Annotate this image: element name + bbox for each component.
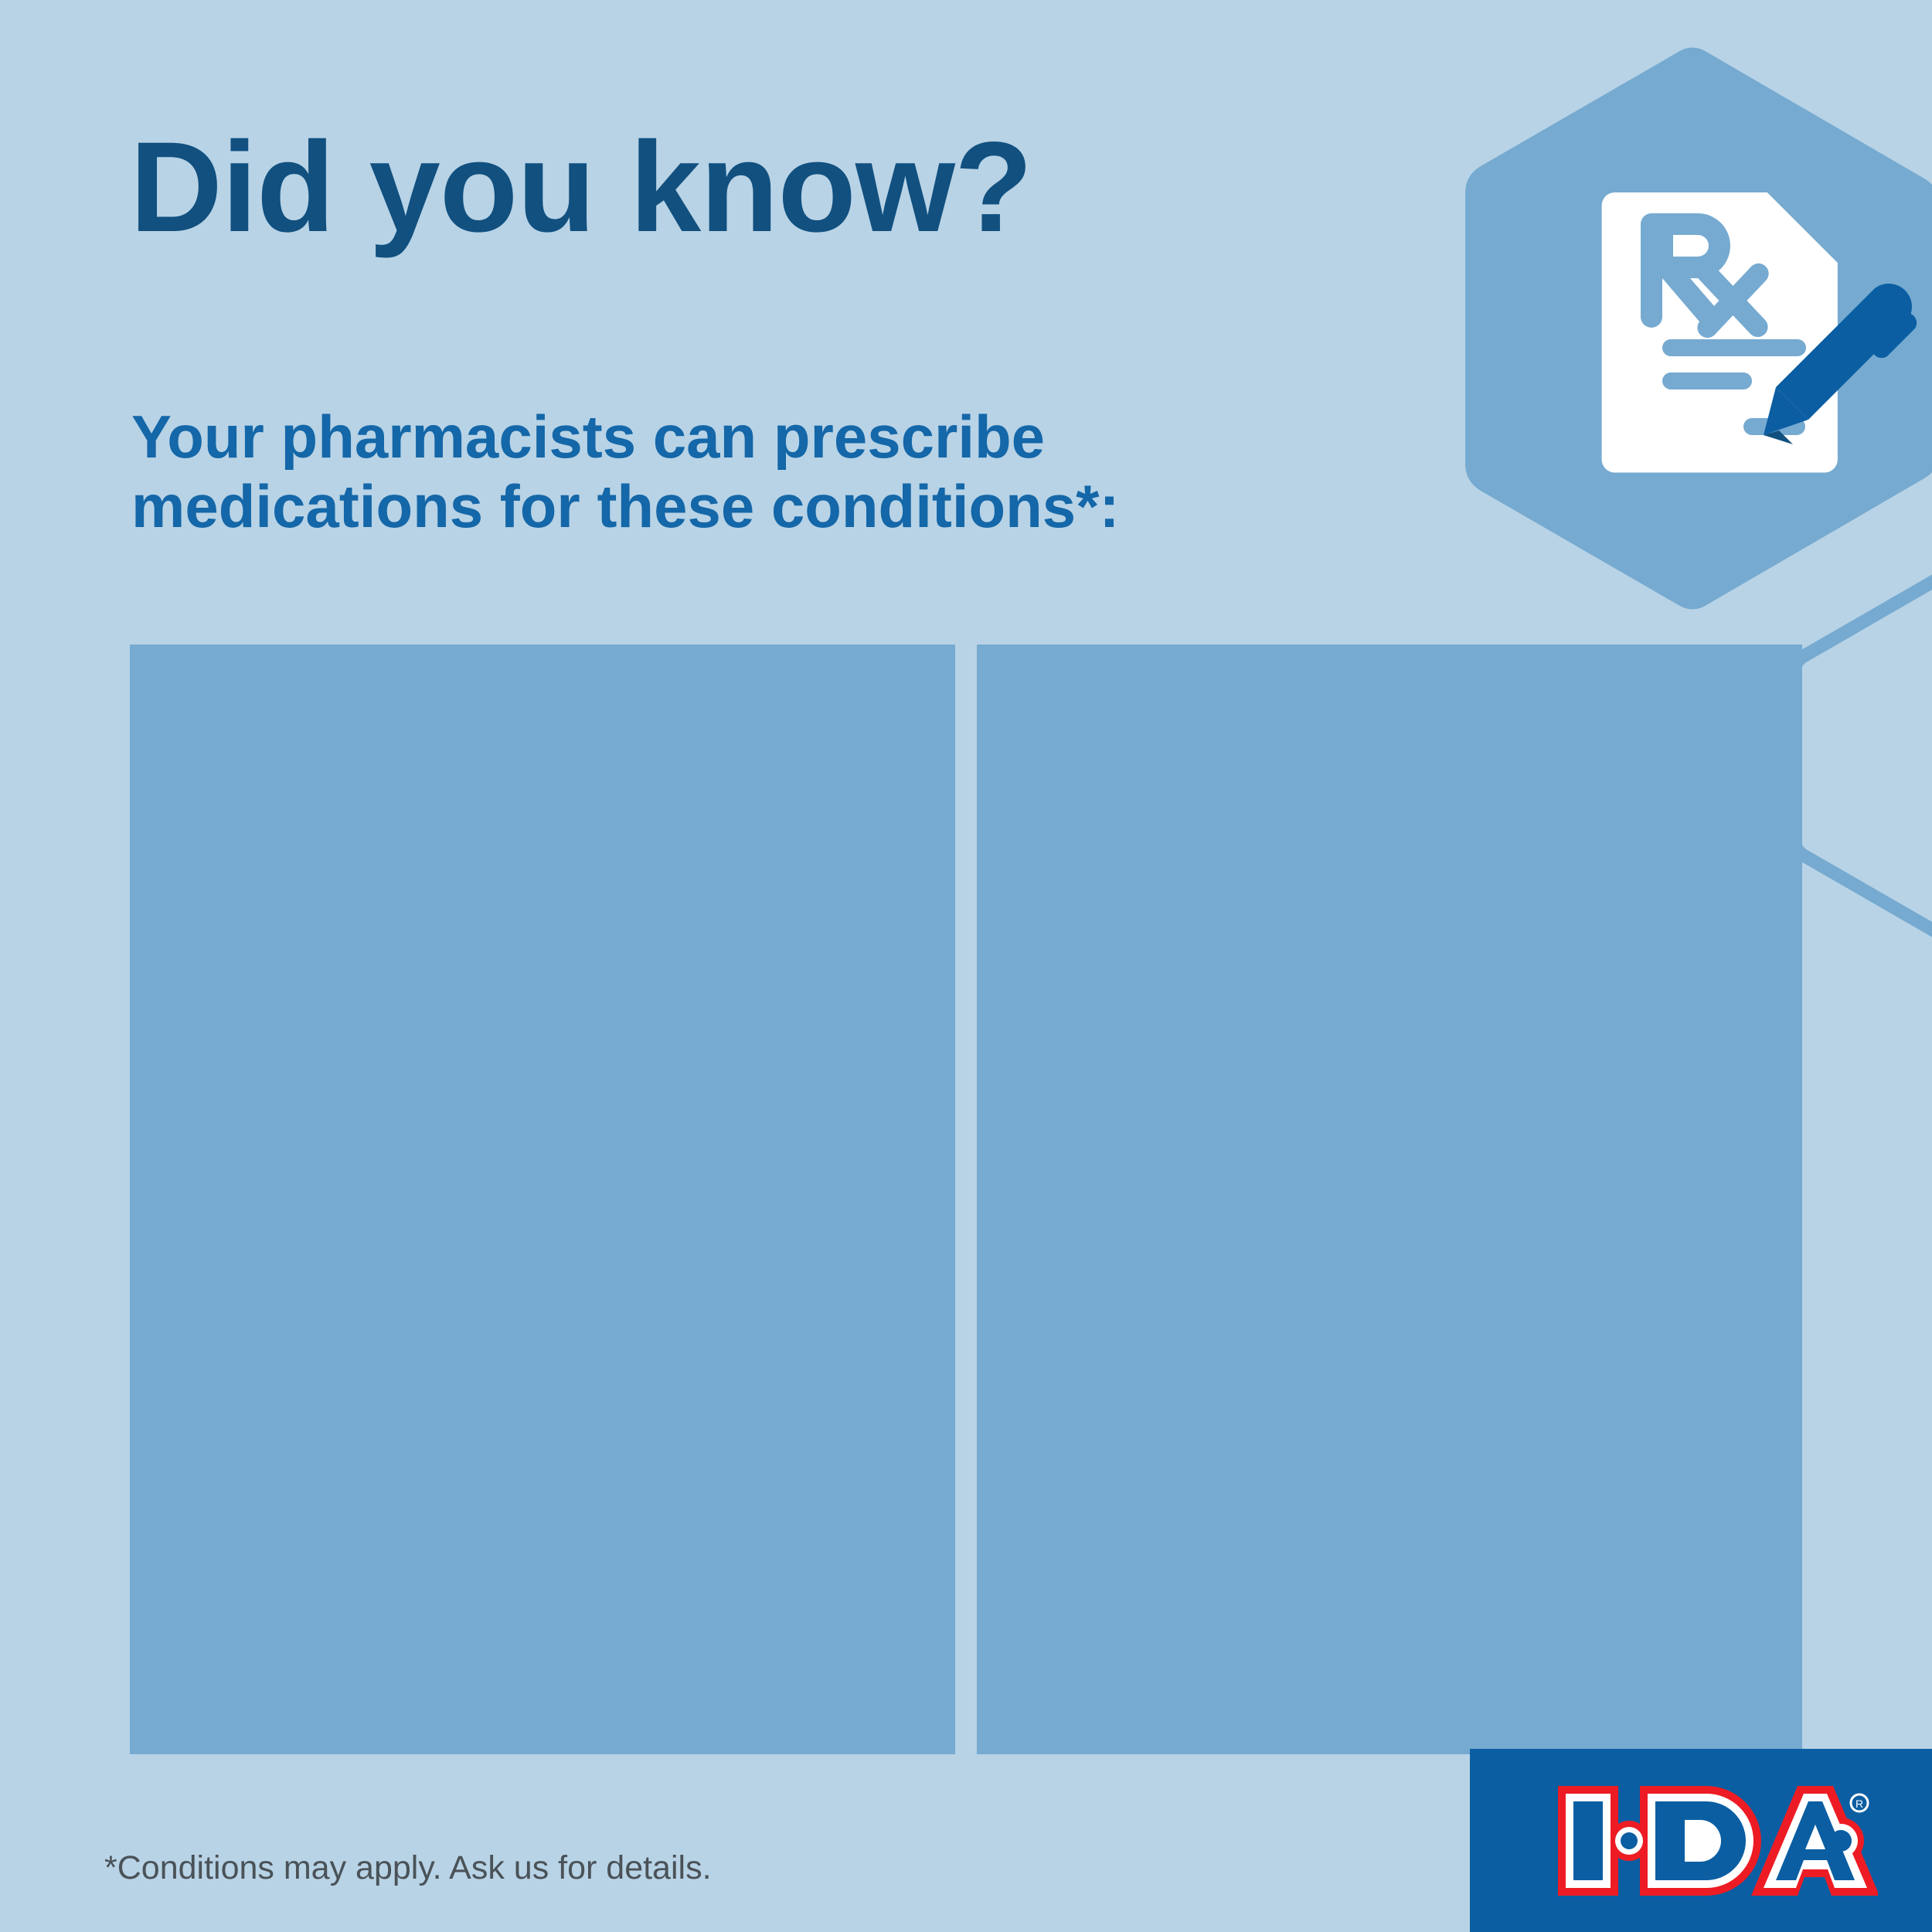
- ida-logo: R: [1553, 1780, 1878, 1902]
- conditions-panel-group: [130, 645, 1802, 1754]
- page-subheadline: Your pharmacists can prescribe medicatio…: [131, 402, 1120, 542]
- page-headline: Did you know?: [130, 124, 1032, 252]
- paper-line-1: [1662, 339, 1806, 356]
- conditions-panel-right[interactable]: [977, 645, 1802, 1754]
- decorative-hexagon-outline: [1791, 574, 1932, 937]
- brand-logo-block[interactable]: R: [1470, 1749, 1932, 1932]
- panel-divider: [955, 645, 977, 1754]
- subheadline-line-1: Your pharmacists can prescribe: [131, 402, 1120, 471]
- prescription-hexagon-badge: [1461, 43, 1932, 614]
- svg-text:R: R: [1855, 1798, 1863, 1810]
- paper-line-2: [1662, 372, 1752, 389]
- conditions-panel-left[interactable]: [130, 645, 955, 1754]
- registered-trademark-mark: R: [1851, 1794, 1868, 1811]
- poster-canvas: Did you know? Your pharmacists can presc…: [0, 0, 1932, 1932]
- footnote-text: *Conditions may apply. Ask us for detail…: [104, 1849, 712, 1889]
- subheadline-line-2: medications for these conditions*:: [131, 471, 1120, 541]
